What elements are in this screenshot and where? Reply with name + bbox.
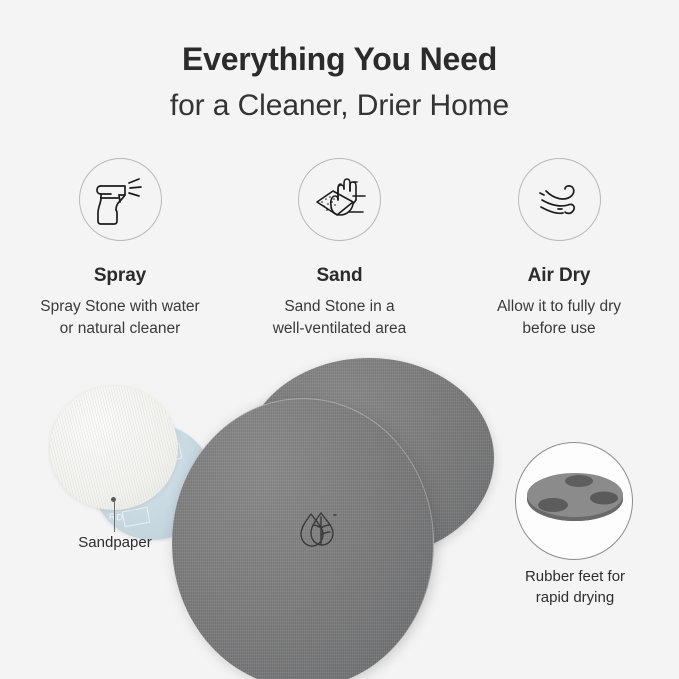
rubber-feet-illustration [516,443,633,560]
hand-sanding-icon [298,158,381,241]
step-title: Spray [94,265,146,287]
heading-block: Everything You Need for a Cleaner, Drier… [0,38,679,128]
rubber-feet-label: Rubber feet for rapid drying [487,566,663,608]
rubber-feet-label-line-1: Rubber feet for [487,566,663,587]
sandpaper-leader-line [114,500,115,532]
step-description: Sand Stone in a well-ventilated area [273,296,407,340]
step-title: Air Dry [528,265,591,287]
step-desc-line-1: Sand Stone in a [273,296,407,318]
leaf-droplet-logo [296,508,344,552]
step-desc-line-2: well-ventilated area [273,318,407,340]
step-sand: Sand Sand Stone in a well-ventilated are… [234,158,446,340]
step-spray: Spray Spray Stone with water or natural … [14,158,226,340]
step-desc-line-1: Allow it to fully dry [497,296,621,318]
air-flow-icon [518,158,601,241]
sandpaper-print-diamond [122,507,150,527]
step-description: Spray Stone with water or natural cleane… [40,296,199,340]
step-desc-line-2: before use [497,318,621,340]
sandpaper-disc-white [50,386,178,510]
step-desc-line-1: Spray Stone with water [40,296,199,318]
spray-bottle-icon [79,158,162,241]
step-desc-line-2: or natural cleaner [40,318,199,340]
step-description: Allow it to fully dry before use [497,296,621,340]
steps-row: Spray Spray Stone with water or natural … [0,158,679,340]
page-title-line-1: Everything You Need [0,38,679,80]
rubber-feet-label-line-2: rapid drying [487,587,663,608]
rubber-feet-callout [515,442,633,560]
page-title-line-2: for a Cleaner, Drier Home [0,84,679,128]
sandpaper-print-mark: RD [109,511,125,522]
step-air-dry: Air Dry Allow it to fully dry before use [453,158,665,340]
infographic-canvas: Everything You Need for a Cleaner, Drier… [0,0,679,679]
step-title: Sand [316,265,362,287]
